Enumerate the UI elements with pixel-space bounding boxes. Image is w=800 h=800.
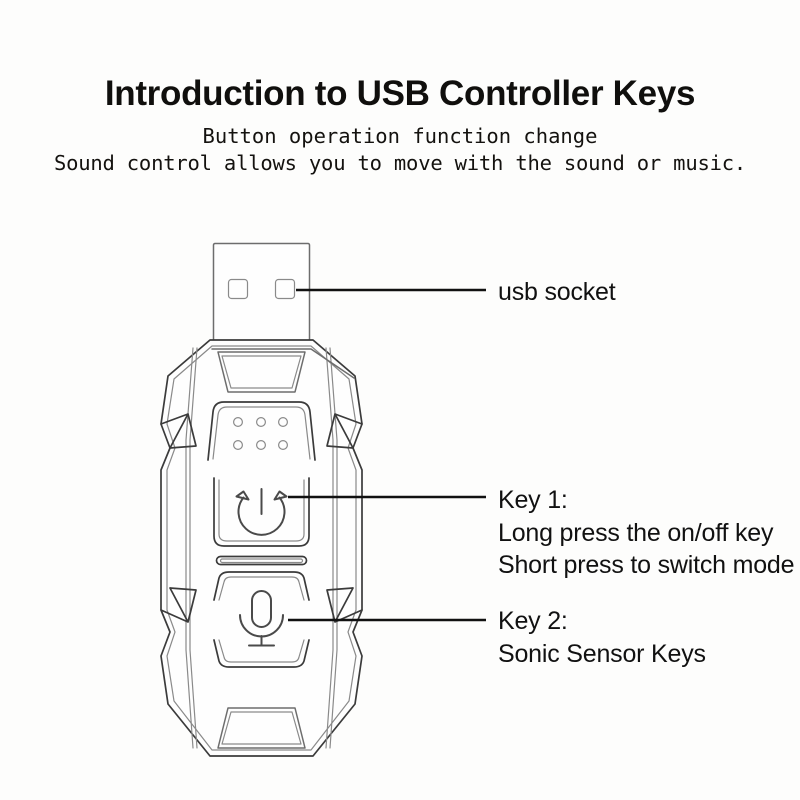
page-root: Introduction to USB Controller Keys Butt… xyxy=(0,0,800,800)
callout-key-1: Key 1: Long press the on/off key Short p… xyxy=(498,484,794,582)
usb-plug-group xyxy=(214,244,310,341)
callout-key-1-line-2: Long press the on/off key xyxy=(498,517,794,550)
callout-key-1-title: Key 1: xyxy=(498,484,794,517)
callout-usb-socket: usb socket xyxy=(498,276,616,309)
callout-key-2: Key 2: Sonic Sensor Keys xyxy=(498,605,706,670)
callout-key-2-title: Key 2: xyxy=(498,605,706,638)
usb-controller-illustration xyxy=(0,0,800,800)
callout-key-1-line-3: Short press to switch mode xyxy=(498,549,794,582)
callout-usb-socket-line: usb socket xyxy=(498,276,616,309)
callout-key-2-line-2: Sonic Sensor Keys xyxy=(498,638,706,671)
